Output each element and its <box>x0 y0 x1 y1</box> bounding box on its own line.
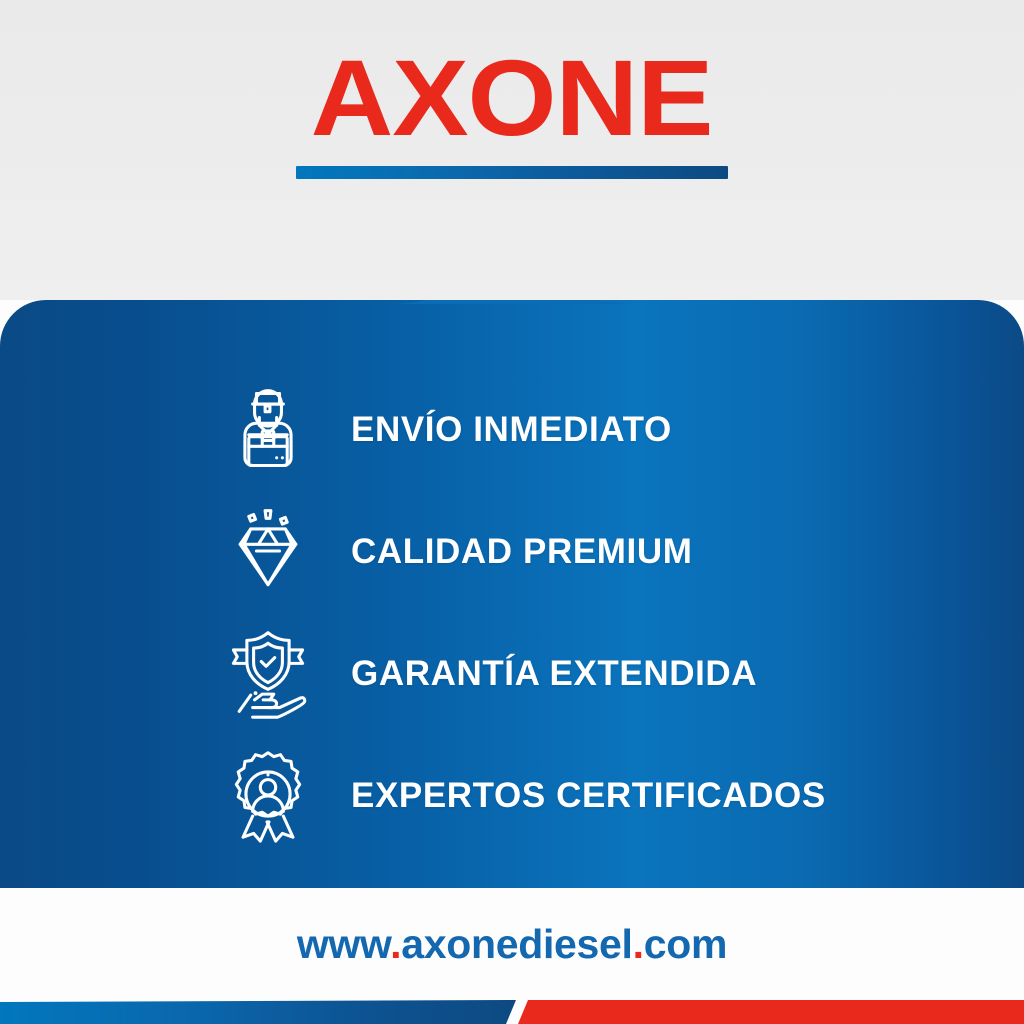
features-list: ENVÍO INMEDIATO CALIDAD PREMIUM <box>0 300 1024 888</box>
feature-row-envio-inmediato: ENVÍO INMEDIATO <box>0 368 1024 490</box>
brand-wordmark: AXONE <box>311 44 713 152</box>
feature-label: CALIDAD PREMIUM <box>351 534 692 569</box>
poster-canvas: AXONE <box>0 0 1024 1024</box>
diamond-gem-icon <box>218 501 318 601</box>
shield-check-hand-icon <box>218 623 318 723</box>
url-dot-separator: . <box>633 921 644 967</box>
bottom-bar-right-segment <box>518 1000 1024 1024</box>
url-domain: axonediesel <box>401 921 632 967</box>
bottom-accent-bar <box>0 1000 1024 1024</box>
brand-underline-rule <box>296 166 728 179</box>
bottom-bar-left-segment <box>0 1000 516 1024</box>
header-area: AXONE <box>0 0 1024 300</box>
url-dot-separator: . <box>390 921 401 967</box>
feature-label: GARANTÍA EXTENDIDA <box>351 656 757 691</box>
website-bar: www.axonediesel.com <box>0 888 1024 1000</box>
award-badge-person-icon <box>218 745 318 845</box>
website-url[interactable]: www.axonediesel.com <box>297 921 727 968</box>
feature-row-calidad-premium: CALIDAD PREMIUM <box>0 490 1024 612</box>
url-prefix: www <box>297 921 390 967</box>
feature-label: ENVÍO INMEDIATO <box>351 412 672 447</box>
feature-row-expertos-certificados: EXPERTOS CERTIFICADOS <box>0 734 1024 856</box>
brand-lockup: AXONE <box>0 44 1024 179</box>
url-tld: com <box>644 921 727 967</box>
feature-label: EXPERTOS CERTIFICADOS <box>351 778 826 813</box>
feature-row-garantia-extendida: GARANTÍA EXTENDIDA <box>0 612 1024 734</box>
delivery-person-box-icon <box>218 379 318 479</box>
